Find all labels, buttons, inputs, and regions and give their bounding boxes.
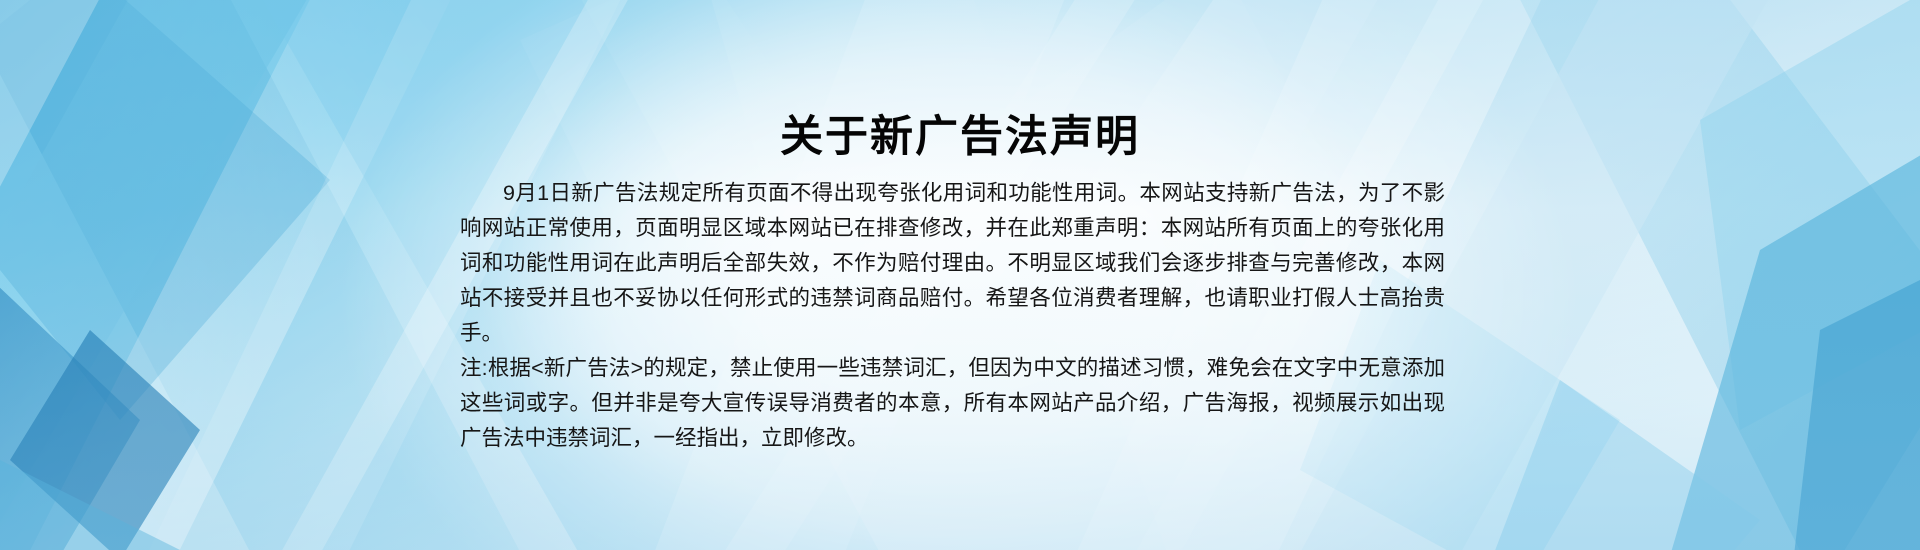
page-title: 关于新广告法声明	[0, 114, 1920, 161]
statement-paragraph-1: 9月1日新广告法规定所有页面不得出现夸张化用词和功能性用词。本网站支持新广告法，…	[460, 176, 1445, 351]
statement-body: 9月1日新广告法规定所有页面不得出现夸张化用词和功能性用词。本网站支持新广告法，…	[460, 176, 1445, 456]
statement-paragraph-2: 注:根据<新广告法>的规定，禁止使用一些违禁词汇，但因为中文的描述习惯，难免会在…	[460, 351, 1445, 456]
advertising-law-statement-banner: 关于新广告法声明 9月1日新广告法规定所有页面不得出现夸张化用词和功能性用词。本…	[0, 0, 1920, 550]
banner-content: 关于新广告法声明 9月1日新广告法规定所有页面不得出现夸张化用词和功能性用词。本…	[0, 0, 1920, 550]
